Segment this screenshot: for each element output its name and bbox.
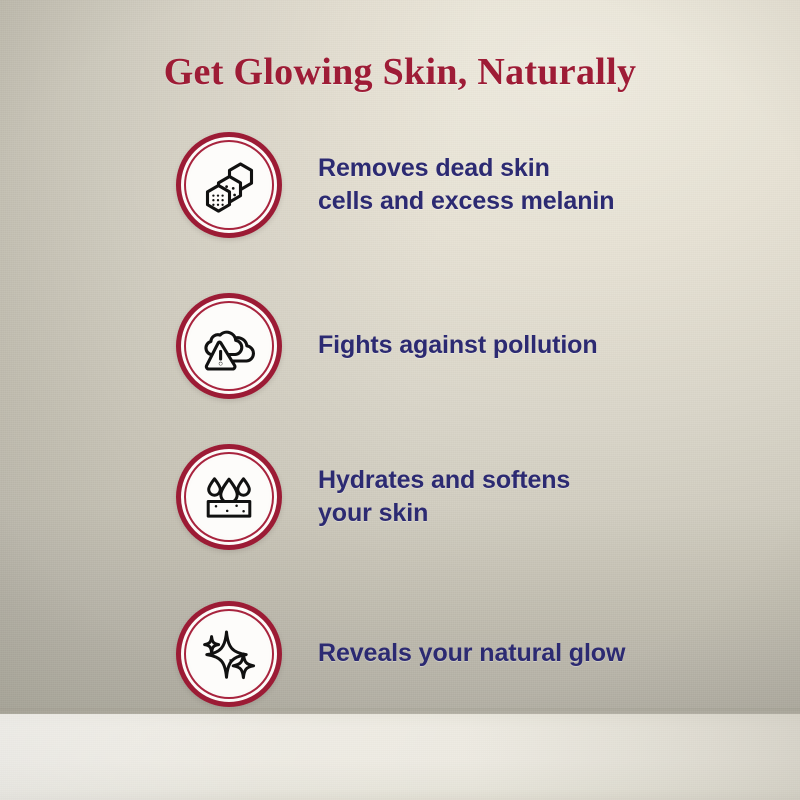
benefit-label: Reveals your natural glow bbox=[318, 637, 625, 670]
pollution-cloud-warning-icon bbox=[189, 306, 269, 386]
benefit-label: Hydrates and softens your skin bbox=[318, 464, 570, 531]
benefits-list: Removes dead skin cells and excess melan… bbox=[0, 0, 800, 800]
benefit-item-hydrates-softens: Hydrates and softens your skin bbox=[176, 443, 776, 551]
benefit-label: Removes dead skin cells and excess melan… bbox=[318, 152, 614, 219]
benefit-icon-badge bbox=[176, 444, 282, 550]
benefit-icon-badge bbox=[176, 132, 282, 238]
water-droplets-skin-layer-icon bbox=[189, 457, 269, 537]
benefit-item-removes-dead-skin-cells: Removes dead skin cells and excess melan… bbox=[176, 131, 776, 239]
benefit-label: Fights against pollution bbox=[318, 329, 598, 362]
sparkle-stars-icon bbox=[189, 614, 269, 694]
benefit-icon-badge bbox=[176, 601, 282, 707]
skin-cells-hexagons-icon bbox=[189, 145, 269, 225]
benefit-item-reveals-natural-glow: Reveals your natural glow bbox=[176, 600, 776, 708]
product-benefits-graphic: Get Glowing Skin, Naturally bbox=[0, 0, 800, 800]
benefit-icon-badge bbox=[176, 293, 282, 399]
benefit-item-fights-pollution: Fights against pollution bbox=[176, 292, 776, 400]
